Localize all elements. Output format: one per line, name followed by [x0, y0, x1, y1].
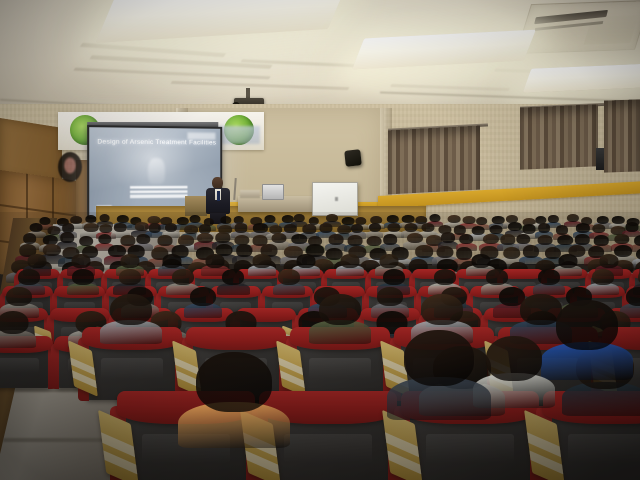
wall-wreath-decoration: [58, 152, 82, 182]
audience-head: [234, 223, 247, 232]
audience-head: [6, 287, 32, 306]
audience-head: [597, 216, 609, 224]
audience-member: [559, 254, 578, 276]
presenter-tie: [217, 191, 220, 201]
audience-head: [486, 269, 508, 285]
audience-member: [110, 294, 152, 344]
audience-head: [559, 254, 578, 268]
audience-head: [380, 254, 399, 268]
audience-head: [415, 245, 433, 257]
audience-head: [383, 269, 405, 285]
audience-head: [292, 234, 307, 245]
audience-head: [523, 245, 539, 257]
audience-member: [72, 269, 94, 295]
seat-pocket: [0, 358, 39, 373]
audience-head: [404, 330, 474, 386]
audience-member: [340, 254, 359, 276]
audience-head: [516, 234, 529, 245]
slide-figure: [148, 158, 165, 184]
audience-head: [508, 222, 522, 231]
audience-head: [215, 232, 230, 243]
audience-head: [575, 234, 589, 245]
audience-member: [556, 300, 618, 380]
audience-head: [265, 215, 276, 223]
curtain-right-window-lower[interactable]: [604, 99, 640, 172]
audience-head: [190, 287, 216, 306]
curtain-right-window-upper[interactable]: [520, 104, 598, 169]
audience-head: [556, 300, 618, 350]
audience-head: [471, 254, 490, 268]
whiteboard: [312, 182, 358, 216]
audience-head: [634, 235, 640, 246]
audience-head: [614, 234, 629, 245]
wall-speaker: [344, 149, 362, 167]
ceiling-ac-cassette: [516, 0, 640, 54]
audience-head: [447, 215, 460, 223]
audience-head: [148, 223, 161, 232]
audience-head: [456, 247, 472, 259]
audience-head: [136, 234, 149, 245]
audience-head: [404, 223, 417, 232]
slide-byline: [130, 186, 188, 199]
audience-head: [594, 235, 608, 246]
audience-head: [538, 235, 553, 246]
audience-member: [196, 352, 272, 448]
audience-head: [134, 222, 148, 231]
audience-head: [172, 269, 194, 285]
audience-head: [351, 224, 363, 233]
audience-head: [430, 214, 441, 222]
audience-head: [369, 223, 381, 232]
audience-head: [23, 233, 37, 244]
audience-head: [30, 223, 43, 232]
audience-head: [72, 269, 94, 285]
audience-head: [556, 225, 568, 234]
audience-head: [296, 254, 315, 268]
audience-head: [98, 234, 111, 245]
seat-pocket: [309, 358, 372, 379]
lecture-hall-photo: Design of Arsenic Treatment Facilities: [0, 0, 640, 480]
audience-head: [538, 269, 560, 285]
audience-member: [0, 311, 29, 348]
audience-head: [294, 214, 305, 222]
audience-head: [436, 246, 453, 258]
audience-head: [319, 223, 332, 232]
ac-panel: [584, 15, 639, 45]
audience-head: [222, 269, 244, 285]
audience-head: [503, 247, 521, 259]
audience-head: [500, 234, 515, 245]
audience-head: [377, 287, 403, 306]
laptop[interactable]: [262, 184, 284, 200]
audience-member: [404, 330, 474, 420]
audience-head: [162, 254, 181, 268]
slide-corner-text: [187, 132, 215, 139]
audience-head: [326, 214, 338, 222]
audience-head: [71, 254, 90, 268]
audience-head: [592, 269, 614, 285]
audience-head: [278, 269, 300, 285]
audience-head: [387, 223, 400, 232]
audience-head: [99, 224, 113, 233]
audience-head: [121, 254, 140, 268]
audience-head: [252, 254, 271, 268]
audience-member: [190, 287, 216, 318]
audience-head: [110, 294, 152, 325]
audience-head: [84, 223, 99, 232]
seat-pocket: [101, 358, 164, 379]
audience-head: [384, 234, 398, 245]
audience-head: [158, 235, 173, 246]
audience-head: [600, 254, 619, 268]
audience-head: [27, 254, 46, 268]
audience-head: [460, 234, 474, 245]
whiteboard-mark: [335, 197, 338, 201]
slide-title: Design of Arsenic Treatment Facilities: [97, 139, 212, 147]
seat-headrest: [186, 327, 285, 351]
audience-head: [538, 223, 550, 232]
audience-head: [0, 311, 29, 334]
audience-head: [236, 244, 252, 256]
audience-head: [566, 214, 578, 222]
audience-member: [319, 294, 361, 344]
audience-head: [523, 224, 536, 233]
curtain-left-window[interactable]: [388, 126, 480, 195]
audience-member: [538, 269, 560, 295]
audience-member: [222, 269, 244, 295]
table-items: [240, 190, 260, 198]
audience-head: [576, 223, 590, 232]
audience-head: [421, 223, 434, 232]
audience-member: [592, 269, 614, 295]
audience-head: [85, 215, 96, 223]
ceiling-light-right: [523, 63, 640, 92]
audience-head: [476, 217, 488, 225]
audience-head: [272, 233, 287, 244]
audience-head: [483, 234, 499, 245]
audience-head: [340, 254, 359, 268]
audience-head: [99, 214, 110, 222]
audience-head: [548, 215, 558, 223]
audience-head: [625, 222, 638, 231]
audience-member: [486, 336, 542, 408]
audience-head: [486, 336, 542, 381]
audience-head: [319, 294, 361, 325]
seat-pocket: [426, 434, 513, 463]
audience-head: [178, 235, 194, 246]
audience-head: [206, 254, 225, 268]
audience-head: [253, 223, 267, 232]
audience-head: [165, 223, 177, 232]
audience-member: [252, 254, 271, 276]
audience-head: [60, 232, 74, 243]
audience-member: [278, 269, 300, 295]
audience-head: [421, 294, 463, 325]
audience-head: [119, 269, 141, 285]
audience-head: [196, 352, 272, 412]
seat-pocket: [284, 434, 371, 463]
audience-head: [462, 216, 475, 224]
audience-head: [366, 236, 381, 247]
audience-head: [197, 233, 213, 244]
audience-head: [407, 233, 423, 244]
audience-head: [441, 232, 455, 243]
audience-head: [18, 269, 40, 285]
audience-head: [329, 234, 344, 245]
audience-head: [189, 215, 200, 223]
audience-head: [612, 216, 624, 224]
audience-head: [220, 216, 231, 224]
audience-head: [348, 235, 363, 246]
audience-head: [626, 287, 640, 306]
audience-head: [434, 269, 456, 285]
seat-pocket: [568, 434, 640, 463]
